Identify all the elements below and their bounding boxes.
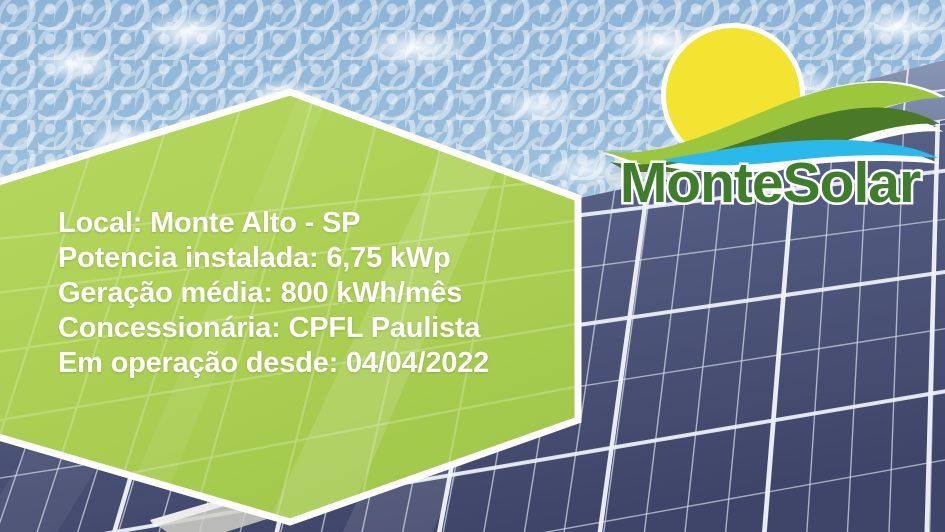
detail-line-operacao: Em operação desde: 04/04/2022 xyxy=(58,346,489,381)
wordmark-label: MonteSolar xyxy=(620,151,921,215)
detail-line-potencia: Potencia instalada: 6,75 kWp xyxy=(58,241,489,276)
promo-card: Local: Monte Alto - SP Potencia instalad… xyxy=(0,0,945,532)
wordmark-text: MonteSolar xyxy=(596,150,945,220)
logo-mark xyxy=(596,12,945,172)
detail-line-geracao: Geração média: 800 kWh/mês xyxy=(58,276,489,311)
montesolar-logo[interactable]: MonteSolar xyxy=(596,12,945,217)
detail-line-local: Local: Monte Alto - SP xyxy=(58,206,489,241)
installation-details: Local: Monte Alto - SP Potencia instalad… xyxy=(58,206,489,381)
logo-wordmark: MonteSolar xyxy=(596,150,945,220)
detail-line-concessionaria: Concessionária: CPFL Paulista xyxy=(58,311,489,346)
